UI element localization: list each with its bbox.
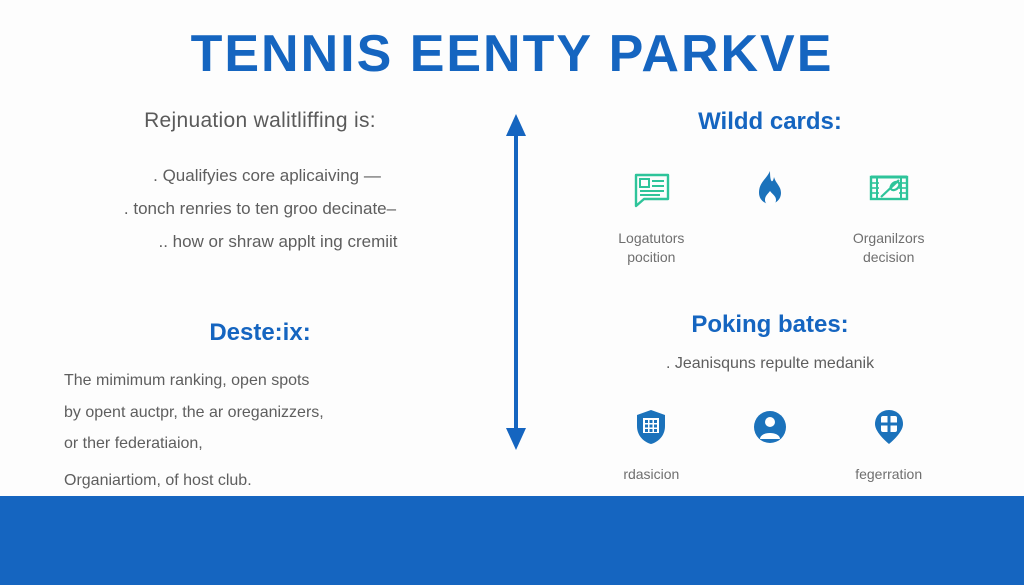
list-item: .. how or shraw applt ing cremiit (50, 225, 470, 258)
left-section-one: Rejnuation walitliffing is: . Qualifyies… (50, 108, 470, 259)
map-pin-window-icon (829, 401, 948, 453)
document-lines-icon (592, 165, 711, 217)
left-column: Rejnuation walitliffing is: . Qualifyies… (50, 108, 470, 473)
icon-item[interactable]: fegerration (829, 401, 948, 484)
tennis-net-racket-icon (829, 165, 948, 217)
right-section-one: Wildd cards: (560, 108, 980, 267)
body-line: or ther federatiaion, (64, 428, 470, 459)
user-circle-icon (711, 401, 830, 453)
title-container: TENNIS EENTY PARKVE (0, 26, 1024, 83)
infographic-poster: TENNIS EENTY PARKVE Rejnuation walitliff… (0, 0, 1024, 585)
icon-label: fegerration (829, 465, 948, 484)
right-column: Wildd cards: (560, 108, 980, 473)
icon-item[interactable]: Organilzors decision (829, 165, 948, 267)
right-section-two-heading: Poking bates: (560, 311, 980, 340)
body-line: Organiartiom, of host club. (64, 465, 470, 496)
left-bullet-list: . Qualifyies core aplicaiving — . tonch … (50, 159, 470, 258)
icon-label: Organilzors decision (829, 229, 948, 267)
poking-icon-row: rdasicion (560, 401, 980, 484)
icon-item[interactable]: rdasicion (592, 401, 711, 484)
left-section-two: Deste:ix: The mimimum ranking, open spot… (50, 319, 470, 497)
footer-bar (0, 496, 1024, 585)
left-section-two-body: The mimimum ranking, open spots by opent… (50, 365, 470, 496)
right-section-two-note: . Jeanisquns repulte medanik (560, 355, 980, 373)
list-item: . Qualifyies core aplicaiving — (50, 159, 470, 192)
icon-label: Logatutors pocition (592, 229, 711, 267)
body-line: The mimimum ranking, open spots (64, 365, 470, 396)
list-item: . tonch renries to ten groo decinate– (50, 192, 470, 225)
flame-icon (711, 165, 830, 217)
right-section-one-heading: Wildd cards: (560, 108, 980, 137)
icon-label: rdasicion (592, 465, 711, 484)
icon-item[interactable] (711, 401, 830, 465)
wildcards-icon-row: Logatutors pocition (560, 165, 980, 267)
page-title: TENNIS EENTY PARKVE (0, 26, 1024, 83)
right-section-two: Poking bates: . Jeanisquns repulte medan… (560, 311, 980, 485)
shield-grid-icon (592, 401, 711, 453)
left-section-one-heading: Rejnuation walitliffing is: (50, 108, 470, 133)
body-line: by opent auctpr, the ar oreganizzers, (64, 397, 470, 428)
icon-item[interactable] (711, 165, 830, 229)
icon-item[interactable]: Logatutors pocition (592, 165, 711, 267)
left-section-two-heading: Deste:ix: (50, 319, 470, 348)
columns-container: Rejnuation walitliffing is: . Qualifyies… (0, 108, 1024, 473)
